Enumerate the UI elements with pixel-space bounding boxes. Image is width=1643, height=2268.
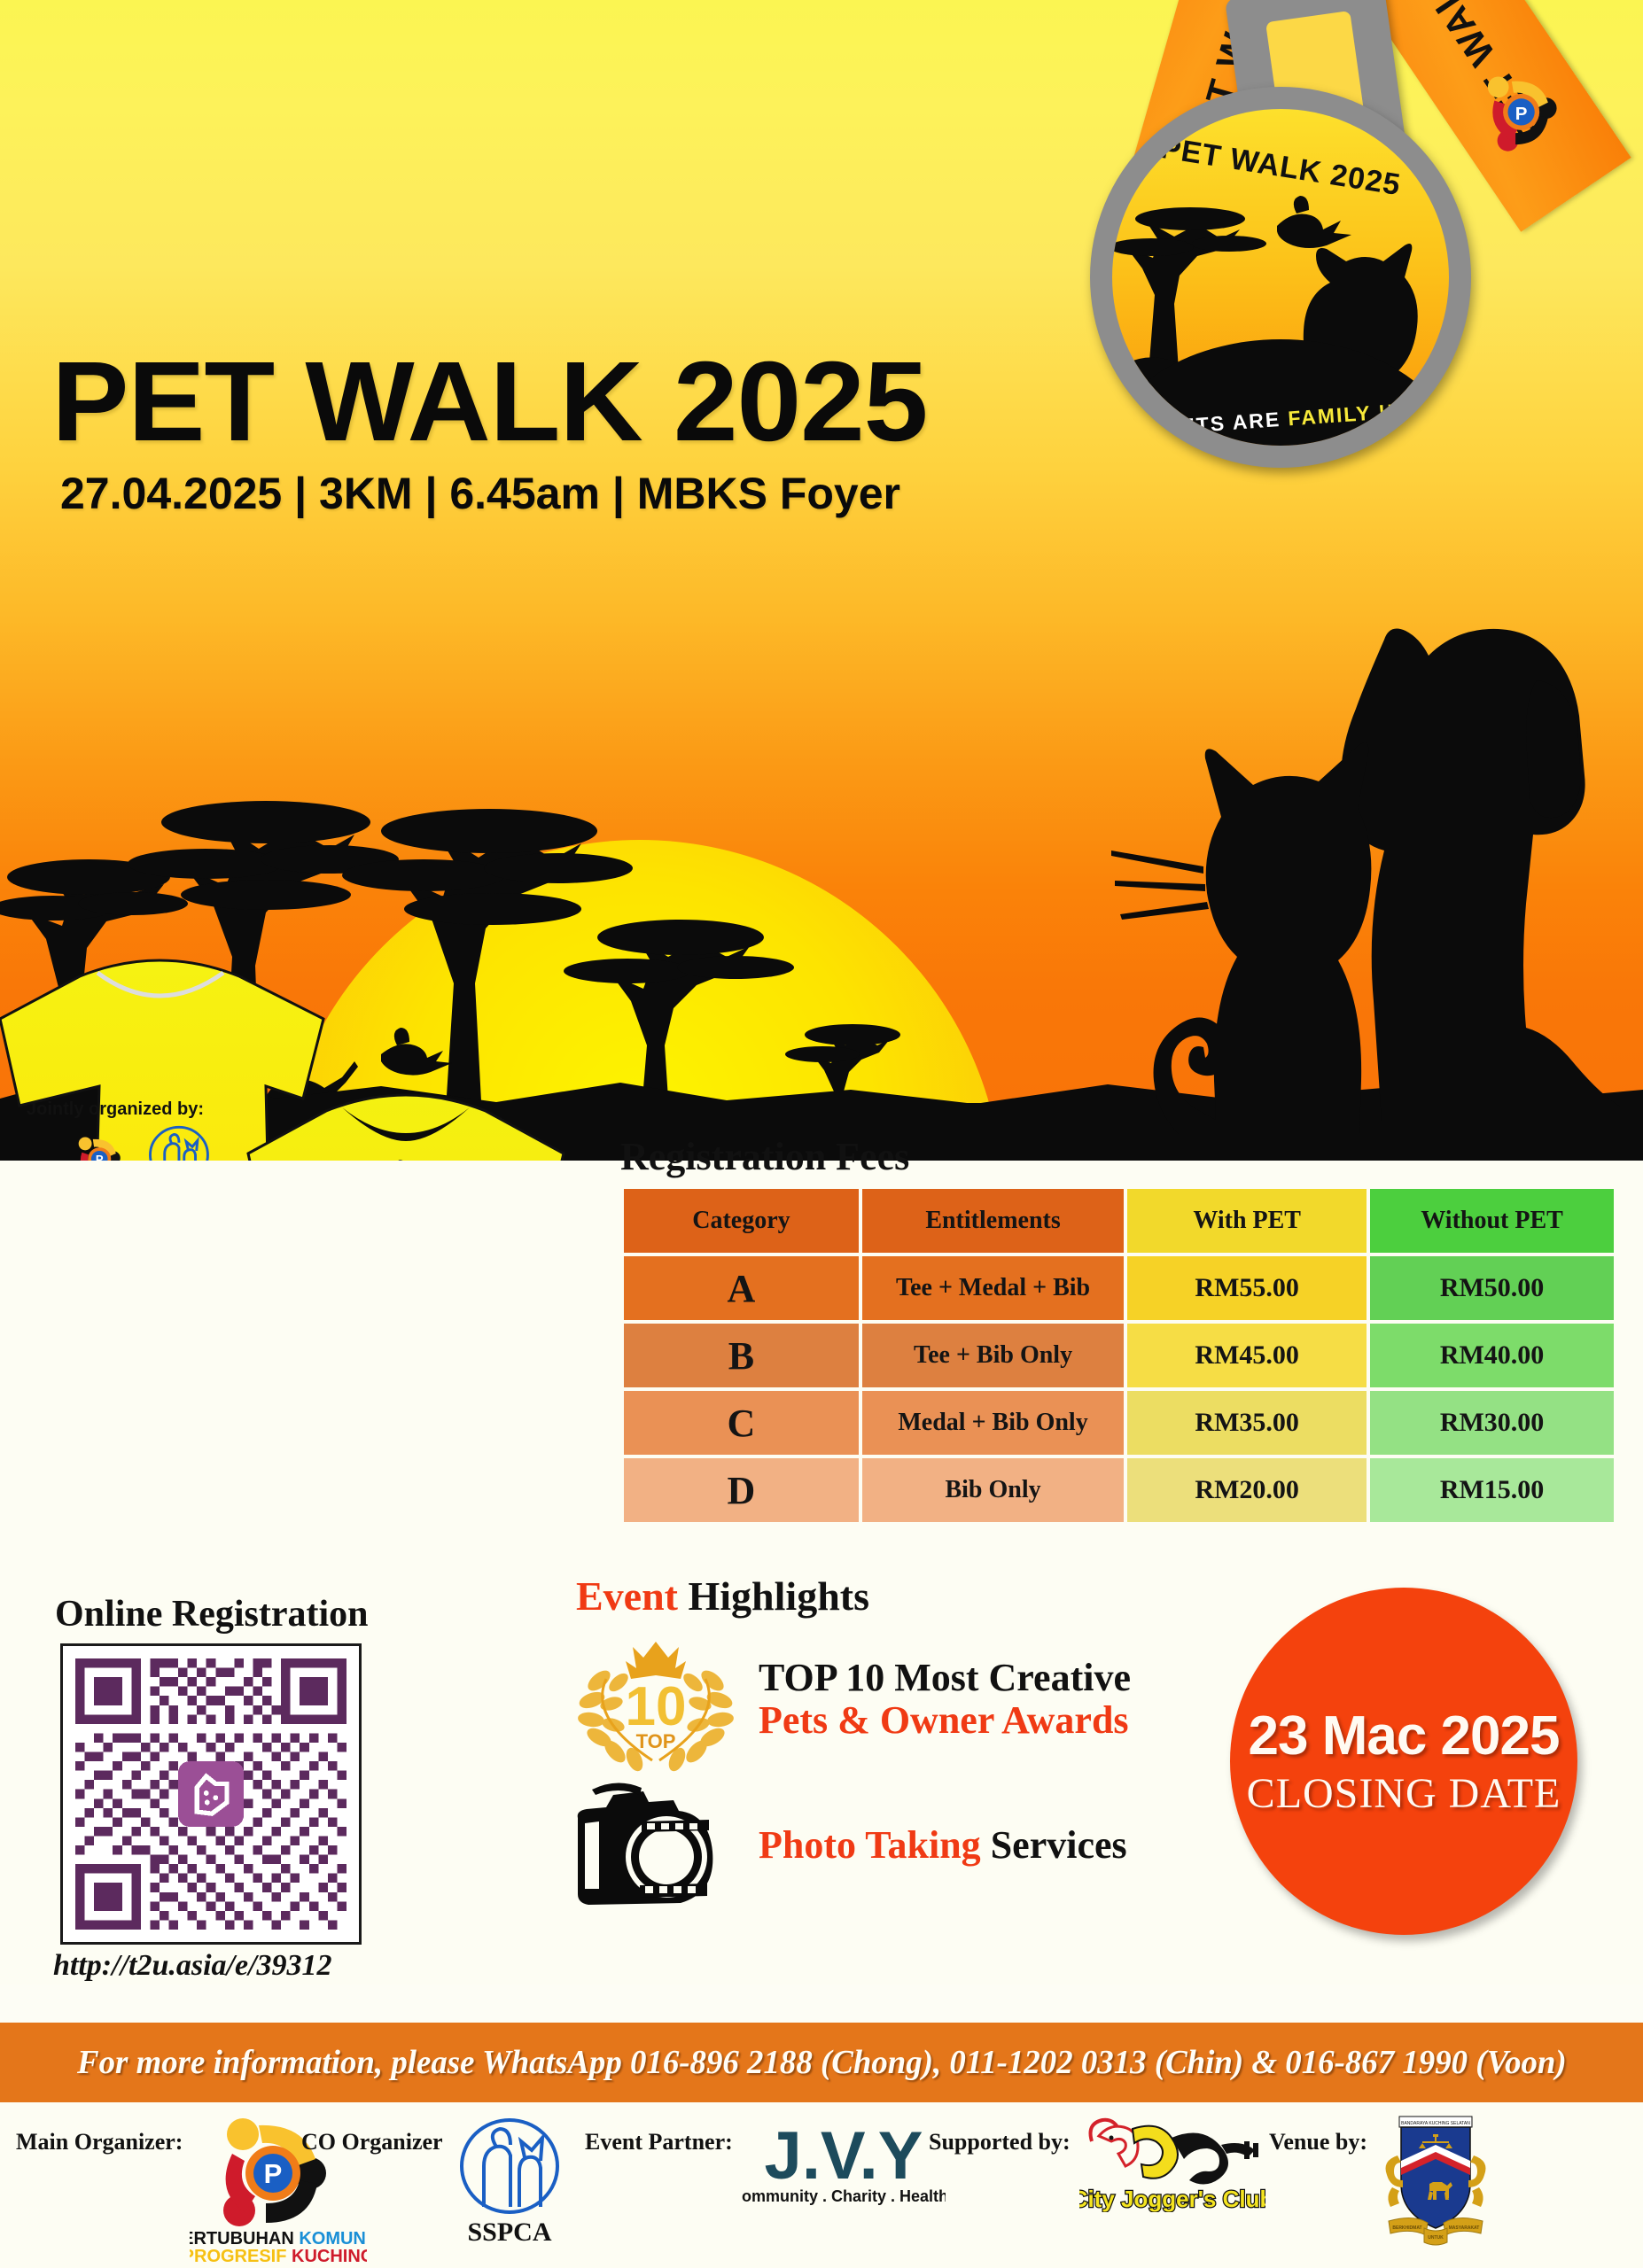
sponsor-label-main-organizer: Main Organizer: [16, 2129, 183, 2155]
contact-banner: For more information, please WhatsApp 01… [0, 2023, 1643, 2102]
fees-cell-entitlements: Tee + Medal + Bib [862, 1256, 1124, 1320]
pkpk-name-line1-black: PERTUBUHAN [190, 2229, 299, 2249]
fees-cell-without-pet: RM50.00 [1370, 1256, 1614, 1320]
fees-cell-with-pet: RM35.00 [1127, 1391, 1367, 1455]
highlight-item-photo: Photo Taking Services [567, 1772, 1127, 1918]
pkpk-name-line2-yellow: PROGRESIF [190, 2247, 292, 2265]
fees-cell-category: D [624, 1458, 859, 1522]
highlight-top10-line2: Pets & Owner Awards [759, 1699, 1131, 1742]
fees-cell-category: A [624, 1256, 859, 1320]
closing-date-label: CLOSING DATE [1247, 1769, 1561, 1818]
jvy-logo-icon: J.V.Y Community . Charity . Healthy [742, 2115, 946, 2221]
registration-url[interactable]: http://t2u.asia/e/39312 [53, 1949, 332, 1983]
pkpk-name-line2-red: KUCHING [292, 2247, 367, 2265]
fees-cell-entitlements: Bib Only [862, 1458, 1124, 1522]
closing-date-value: 23 Mac 2025 [1249, 1705, 1560, 1767]
closing-date-badge: 23 Mac 2025 CLOSING DATE [1230, 1588, 1577, 1935]
sponsor-supported-by: Supported by: City Jogger's Club [929, 2115, 1265, 2212]
highlight-top10-line1: TOP 10 Most Creative [759, 1657, 1131, 1699]
online-registration-heading: Online Registration [55, 1593, 369, 1635]
mbks-crest-icon: BANDARAYA KUCHING SELATAN [1378, 2115, 1493, 2265]
fees-header-row: Category Entitlements With PET Without P… [624, 1189, 1614, 1253]
top10-badge-word: TOP [636, 1730, 676, 1752]
fees-col-without-pet: Without PET [1370, 1189, 1614, 1253]
pkpk-ribbon-logo-icon: P [1474, 64, 1569, 159]
sponsor-event-partner: Event Partner: J.V.Y Community . Charity… [585, 2115, 946, 2221]
svg-text:BERKHIDMAT: BERKHIDMAT [1392, 2225, 1421, 2231]
highlight-photo-red: Photo Taking [759, 1823, 991, 1867]
fees-cell-category: B [624, 1324, 859, 1387]
fees-col-with-pet: With PET [1127, 1189, 1367, 1253]
svg-text:P: P [264, 2158, 283, 2189]
highlight-photo-text: Photo Taking Services [759, 1824, 1127, 1867]
qr-code[interactable] [60, 1643, 362, 1945]
svg-text:MASYARAKAT: MASYARAKAT [1449, 2225, 1480, 2231]
svg-text:PROGRESIF KUCHING: PROGRESIF KUCHING [190, 2247, 367, 2265]
registration-fees-table: Category Entitlements With PET Without P… [620, 1185, 1617, 1526]
table-row: A Tee + Medal + Bib RM55.00 RM50.00 [624, 1256, 1614, 1320]
fees-col-category: Category [624, 1189, 859, 1253]
fees-cell-with-pet: RM55.00 [1127, 1256, 1367, 1320]
medal-graphic: PET WALK 2025 PET WALK 2025 P [1099, 0, 1643, 620]
medal-body: PET WALK 2025 PETS ARE FAMILY !! [1090, 87, 1471, 468]
tshirt-back-credit-label: Jointly organized by: [27, 1099, 204, 1119]
highlight-item-top10: 10 TOP TOP 10 Most Creative Pets & Owner… [567, 1626, 1131, 1772]
top10-badge-number: 10 [626, 1676, 687, 1737]
page-title: PET WALK 2025 [51, 346, 927, 459]
sponsor-co-organizer: CO Organizer SSPCA [301, 2115, 567, 2248]
top10-laurel-icon: 10 TOP [567, 1626, 744, 1772]
footer-sponsors: Main Organizer: P PERTUBUHAN KOMUNITI PR… [0, 2102, 1643, 2268]
table-row: B Tee + Bib Only RM45.00 RM40.00 [624, 1324, 1614, 1387]
svg-text:BANDARAYA KUCHING SELATAN: BANDARAYA KUCHING SELATAN [1401, 2121, 1470, 2126]
camera-icon [567, 1772, 744, 1918]
table-row: D Bib Only RM20.00 RM15.00 [624, 1458, 1614, 1522]
sponsor-label-event-partner: Event Partner: [585, 2129, 733, 2155]
jvy-name: J.V.Y [764, 2118, 923, 2194]
fees-cell-without-pet: RM15.00 [1370, 1458, 1614, 1522]
event-highlights-heading: Event Highlights [576, 1573, 869, 1619]
fees-cell-without-pet: RM30.00 [1370, 1391, 1614, 1455]
fees-col-entitlements: Entitlements [862, 1189, 1124, 1253]
event-details-line: 27.04.2025 | 3KM | 6.45am | MBKS Foyer [60, 468, 919, 519]
svg-text:UNTUK: UNTUK [1428, 2235, 1444, 2241]
registration-fees-heading: Registration Fees [620, 1134, 909, 1179]
poster-root: PET WALK 2025 PET WALK 2025 P [0, 0, 1643, 2268]
sponsor-label-venue-by: Venue by: [1269, 2129, 1367, 2155]
event-highlights-heading-black: Highlights [689, 1573, 870, 1619]
sspca-logo-icon: SSPCA [452, 2115, 567, 2248]
city-joggers-club-name: City Jogger's Club [1079, 2186, 1265, 2212]
sspca-name: SSPCA [467, 2218, 551, 2247]
svg-text:P: P [1515, 104, 1528, 124]
fees-cell-entitlements: Tee + Bib Only [862, 1324, 1124, 1387]
sponsor-label-co-organizer: CO Organizer [301, 2129, 443, 2155]
title-block: PET WALK 2025 27.04.2025 | 3KM | 6.45am … [60, 346, 919, 519]
medal-face: PET WALK 2025 PETS ARE FAMILY !! [1112, 109, 1449, 446]
table-row: C Medal + Bib Only RM35.00 RM30.00 [624, 1391, 1614, 1455]
city-joggers-club-logo-icon: City Jogger's Club [1079, 2115, 1265, 2212]
fees-cell-with-pet: RM45.00 [1127, 1324, 1367, 1387]
sponsor-label-supported-by: Supported by: [929, 2129, 1071, 2155]
fees-cell-category: C [624, 1391, 859, 1455]
fees-cell-with-pet: RM20.00 [1127, 1458, 1367, 1522]
qr-code-matrix[interactable] [75, 1658, 347, 1930]
highlight-photo-black: Services [991, 1823, 1127, 1867]
highlight-top10-text: TOP 10 Most Creative Pets & Owner Awards [759, 1657, 1131, 1741]
fees-cell-without-pet: RM40.00 [1370, 1324, 1614, 1387]
sponsor-venue-by: Venue by: BANDARAYA KUCHING SELATAN [1269, 2115, 1493, 2265]
event-highlights-heading-red: Event [576, 1573, 689, 1619]
cat-dog-silhouette [1072, 585, 1639, 1134]
fees-cell-entitlements: Medal + Bib Only [862, 1391, 1124, 1455]
jvy-tagline: Community . Charity . Healthy [742, 2187, 946, 2205]
contact-text: For more information, please WhatsApp 01… [77, 2043, 1567, 2082]
